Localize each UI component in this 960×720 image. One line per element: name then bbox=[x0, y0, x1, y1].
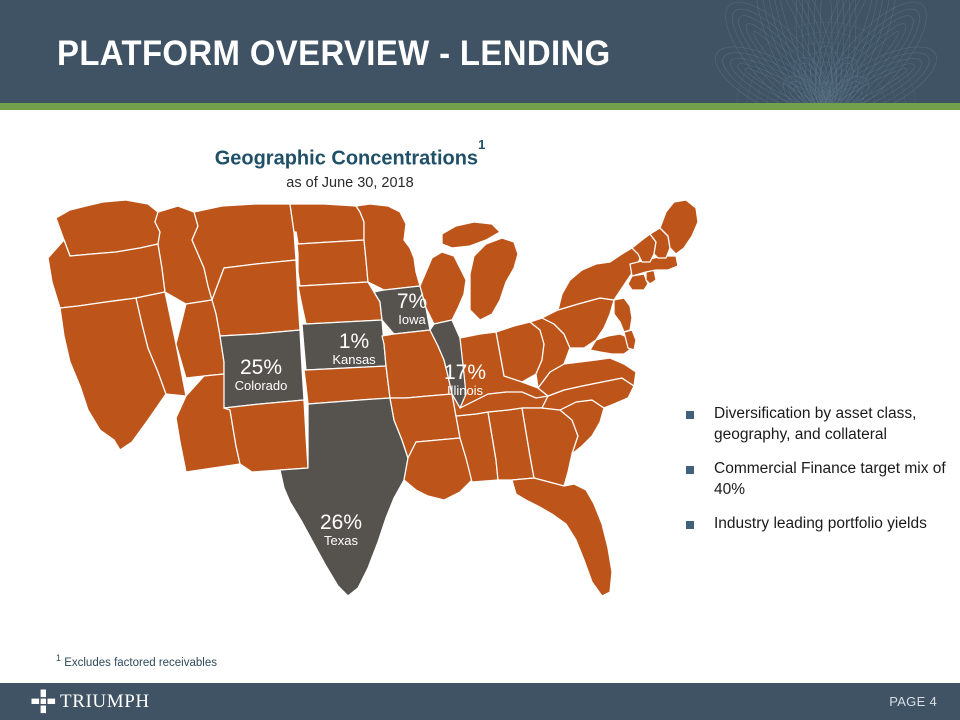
square-bullet-icon bbox=[686, 466, 694, 474]
bullet-text: Industry leading portfolio yields bbox=[714, 514, 948, 535]
page-number: PAGE 4 bbox=[889, 694, 937, 709]
triumph-cross-icon bbox=[31, 689, 56, 714]
chart-title: Geographic Concentrations1 bbox=[0, 145, 700, 171]
chart-subtitle: as of June 30, 2018 bbox=[0, 175, 700, 191]
state-ks[interactable] bbox=[302, 320, 386, 370]
state-co[interactable] bbox=[220, 330, 304, 408]
slide-header: PLATFORM OVERVIEW - LENDING bbox=[0, 0, 960, 103]
list-item: Commercial Finance target mix of 40% bbox=[686, 459, 948, 500]
chart-title-text: Geographic Concentrations bbox=[215, 148, 478, 170]
us-map[interactable]: 25% Colorado 1% Kansas 7% Iowa 17% Illin… bbox=[8, 196, 698, 646]
brand-logo: TRIUMPH bbox=[31, 689, 150, 714]
state-nj[interactable] bbox=[614, 298, 632, 332]
bullet-text: Commercial Finance target mix of 40% bbox=[714, 459, 948, 500]
footnote: 1 Excludes factored receivables bbox=[56, 653, 217, 669]
guilloche-rosette-icon bbox=[666, 0, 960, 103]
square-bullet-icon bbox=[686, 521, 694, 529]
footnote-text: Excludes factored receivables bbox=[61, 657, 217, 669]
state-la[interactable] bbox=[404, 438, 472, 500]
us-map-svg[interactable]: 25% Colorado 1% Kansas 7% Iowa 17% Illin… bbox=[8, 196, 698, 646]
state-nd[interactable] bbox=[290, 204, 364, 244]
list-item: Diversification by asset class, geograph… bbox=[686, 404, 948, 445]
slide: PLATFORM OVERVIEW - LENDING Geographic C… bbox=[0, 0, 960, 720]
list-item: Industry leading portfolio yields bbox=[686, 514, 948, 535]
state-wy[interactable] bbox=[212, 260, 300, 336]
chart-title-footnote-marker: 1 bbox=[478, 137, 485, 152]
state-ne[interactable] bbox=[298, 282, 382, 324]
header-accent-stripe bbox=[0, 103, 960, 110]
bullet-list: Diversification by asset class, geograph… bbox=[686, 404, 948, 549]
page-title: PLATFORM OVERVIEW - LENDING bbox=[57, 34, 611, 74]
state-ct[interactable] bbox=[628, 274, 648, 290]
bullet-text: Diversification by asset class, geograph… bbox=[714, 404, 948, 445]
square-bullet-icon bbox=[686, 411, 694, 419]
state-fl[interactable] bbox=[512, 478, 612, 596]
brand-name: TRIUMPH bbox=[60, 691, 150, 713]
